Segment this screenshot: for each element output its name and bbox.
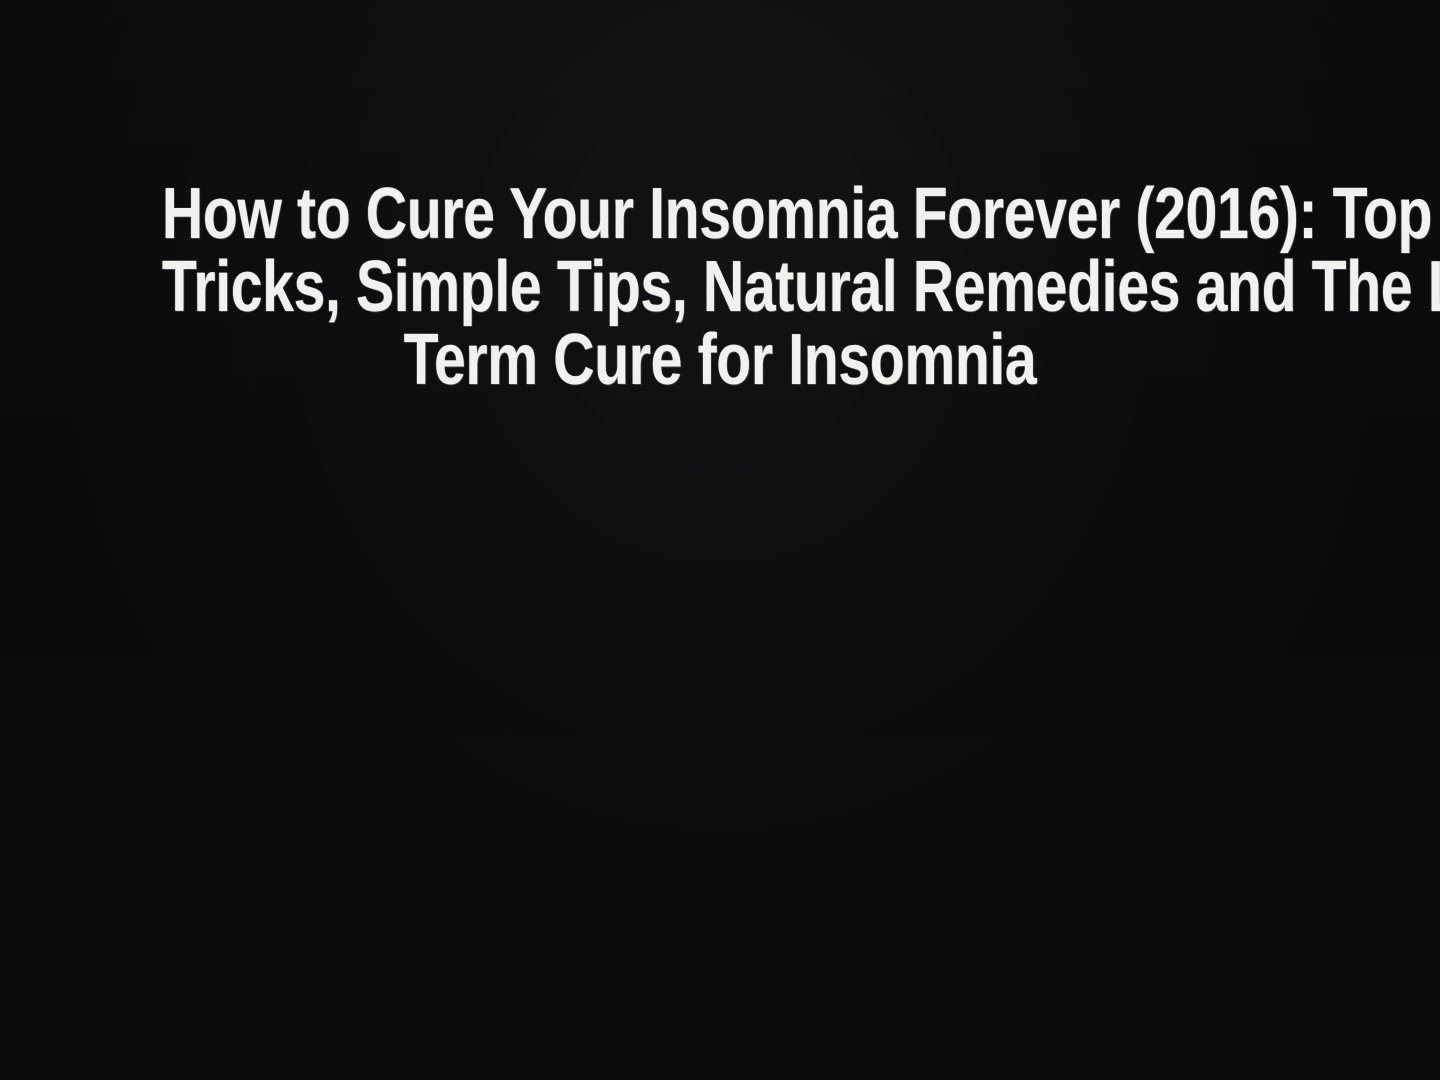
book-cover: How to Cure Your Insomnia Forever (2016)… xyxy=(0,0,1440,1080)
cover-title-block: How to Cure Your Insomnia Forever (2016)… xyxy=(0,178,1440,397)
cover-title-line-3: Term Cure for Insomnia xyxy=(162,324,1278,397)
cover-title-line-1: How to Cure Your Insomnia Forever (2016)… xyxy=(162,178,1278,251)
cover-title-line-2: Tricks, Simple Tips, Natural Remedies an… xyxy=(162,251,1278,324)
